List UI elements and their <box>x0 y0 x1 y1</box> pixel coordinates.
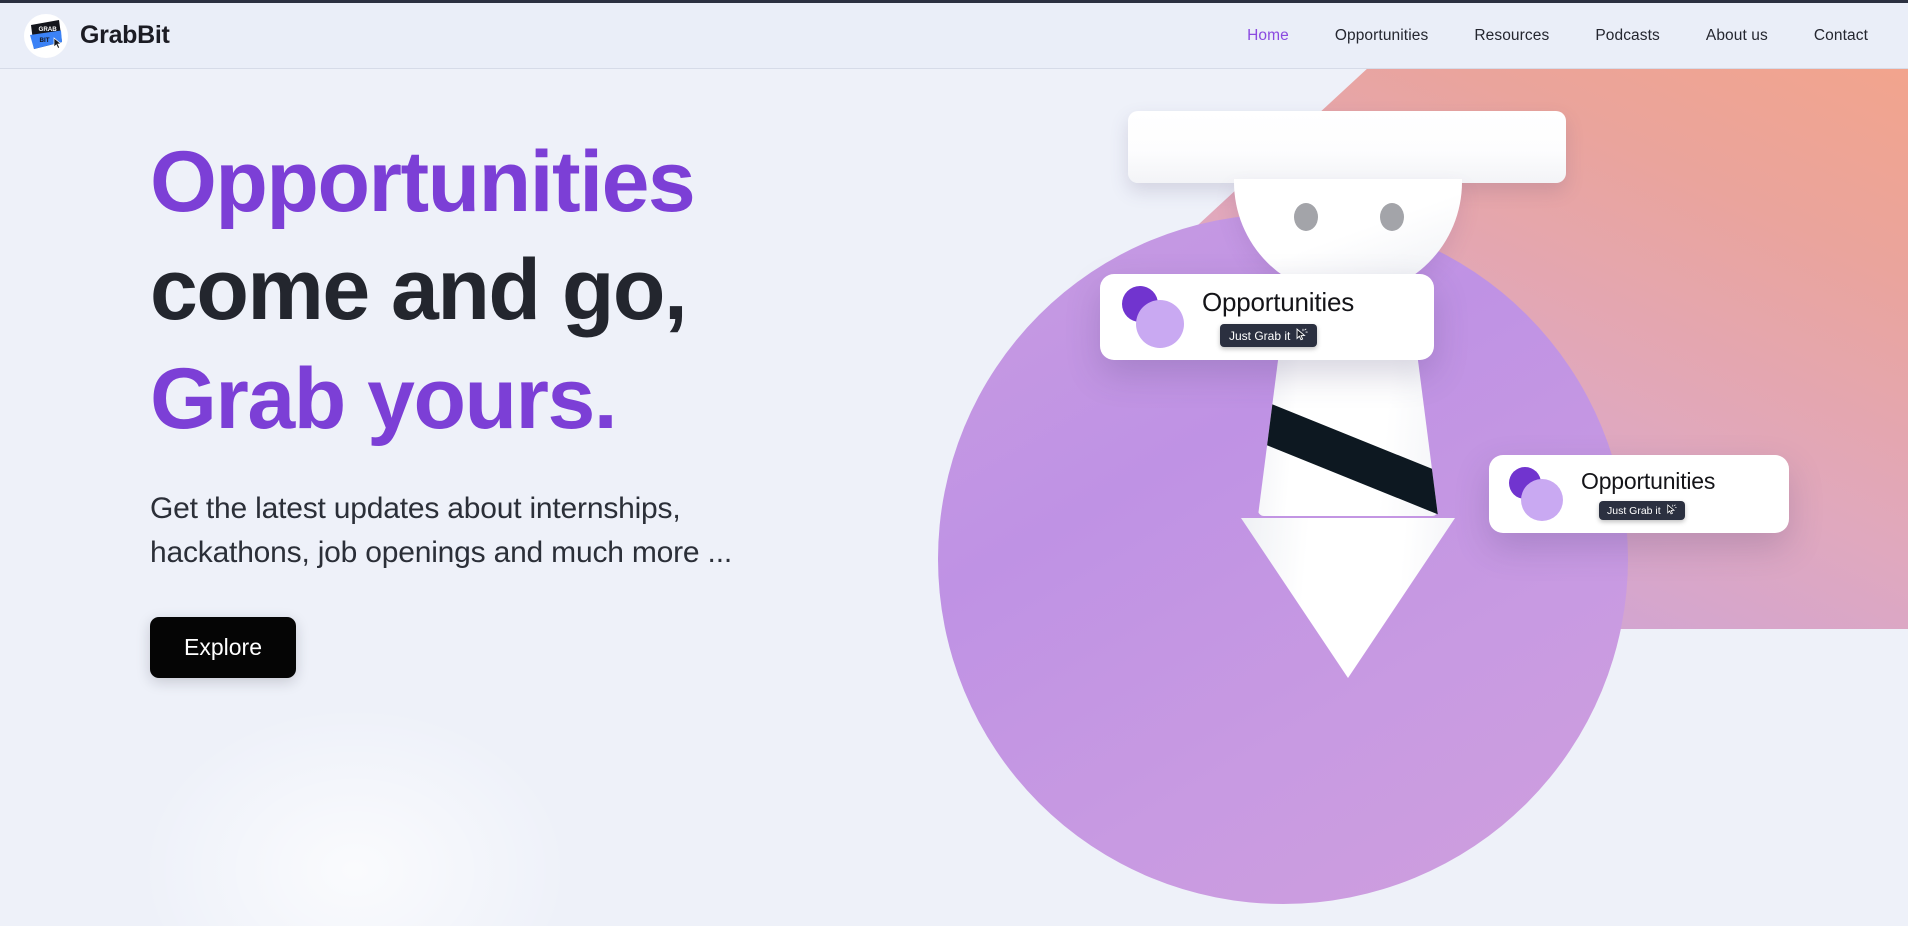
just-grab-it-label: Just Grab it <box>1229 329 1290 343</box>
opportunity-card-title: Opportunities <box>1581 468 1715 495</box>
nav-item-home[interactable]: Home <box>1247 27 1289 45</box>
opportunity-card-title: Opportunities <box>1202 287 1354 318</box>
headline-line-2: come and go, <box>150 236 1070 344</box>
cursor-pointer-icon <box>1295 328 1308 343</box>
mascot-sash-band <box>1258 393 1438 516</box>
main-navigation: Home Opportunities Resources Podcasts Ab… <box>1247 27 1868 45</box>
dot-light-icon <box>1521 479 1563 521</box>
nav-item-about-us[interactable]: About us <box>1706 27 1768 45</box>
just-grab-it-button[interactable]: Just Grab it <box>1599 501 1685 521</box>
headline-line-3: Grab yours. <box>150 345 1070 453</box>
brand-name: GrabBit <box>80 21 170 50</box>
decorative-ellipse <box>55 640 655 926</box>
subtitle-line-1: Get the latest updates about internships… <box>150 492 680 525</box>
mascot-left-eye <box>1294 203 1318 231</box>
site-header: GRAB BIT GrabBit Home Opportunities Reso… <box>0 3 1908 69</box>
opportunity-card[interactable]: Opportunities Just Grab it <box>1100 274 1434 360</box>
subtitle-line-2: hackathons, job openings and much more .… <box>150 536 732 569</box>
opportunity-card-body: Opportunities Just Grab it <box>1202 287 1354 347</box>
hero-subtitle: Get the latest updates about internships… <box>150 487 1030 575</box>
mascot-tail <box>1241 518 1455 678</box>
opportunity-dots-icon <box>1122 286 1190 348</box>
mascot-right-eye <box>1380 203 1404 231</box>
explore-button[interactable]: Explore <box>150 617 296 678</box>
nav-item-opportunities[interactable]: Opportunities <box>1335 27 1429 45</box>
just-grab-it-label: Just Grab it <box>1607 505 1661 517</box>
cursor-pointer-icon <box>1666 504 1677 518</box>
grabbit-logo-icon: GRAB BIT <box>24 14 68 58</box>
opportunity-card[interactable]: Opportunities Just Grab it <box>1489 455 1789 533</box>
headline-line-1: Opportunities <box>150 128 1070 236</box>
hero-content: Opportunities come and go, Grab yours. G… <box>150 128 1070 678</box>
page-title: Opportunities come and go, Grab yours. <box>150 128 1070 453</box>
nav-item-contact[interactable]: Contact <box>1814 27 1868 45</box>
brand-logo[interactable]: GRAB BIT GrabBit <box>24 14 170 58</box>
opportunity-card-body: Opportunities Just Grab it <box>1581 468 1715 521</box>
svg-text:GRAB: GRAB <box>39 26 58 33</box>
nav-item-resources[interactable]: Resources <box>1474 27 1549 45</box>
dot-light-icon <box>1136 300 1184 348</box>
nav-item-podcasts[interactable]: Podcasts <box>1595 27 1660 45</box>
landing-page: GRAB BIT GrabBit Home Opportunities Reso… <box>0 0 1908 926</box>
svg-text:BIT: BIT <box>40 37 50 44</box>
just-grab-it-button[interactable]: Just Grab it <box>1220 324 1317 347</box>
mascot-hat-brim <box>1128 111 1566 183</box>
opportunity-dots-icon <box>1509 467 1569 522</box>
